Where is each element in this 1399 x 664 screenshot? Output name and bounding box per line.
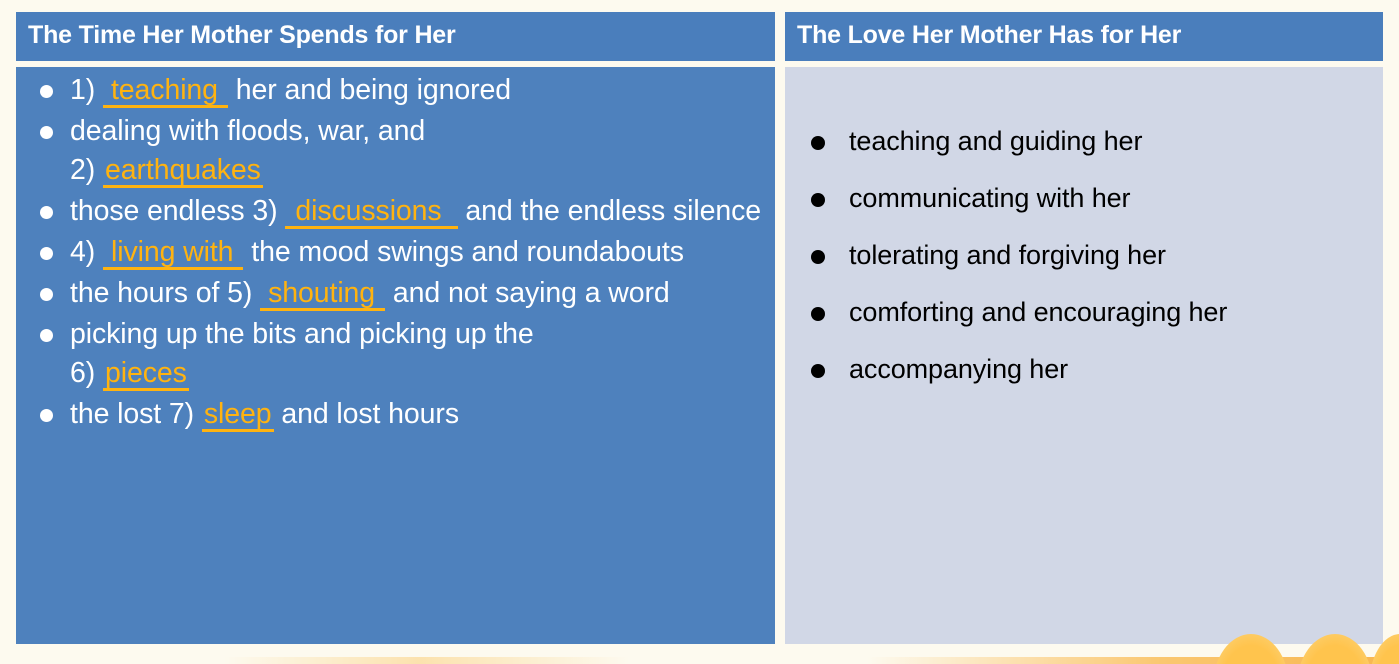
answer-blank-1[interactable]: teaching	[103, 76, 228, 108]
answer-blank-6[interactable]: pieces	[103, 359, 189, 391]
answer-blank-7[interactable]: sleep	[202, 400, 274, 432]
list-item: 1) teaching her and being ignored	[22, 71, 765, 110]
gradient-stripe	[0, 657, 1399, 664]
item-text: tolerating and forgiving her	[849, 240, 1166, 270]
comparison-table: The Time Her Mother Spends for Her 1) te…	[16, 12, 1383, 644]
item-text: and not saying a word	[393, 277, 670, 309]
answer-blank-3[interactable]: discussions	[285, 197, 457, 229]
answer-blank-5[interactable]: shouting	[260, 279, 385, 311]
item-text: the lost 7)	[70, 398, 194, 430]
answer-blank-2[interactable]: earthquakes	[103, 156, 263, 188]
item-text: those endless 3)	[70, 195, 278, 227]
list-item: the lost 7) sleep and lost hours	[22, 395, 765, 434]
answer-blank-4[interactable]: living with	[103, 238, 243, 270]
right-item-list: teaching and guiding hercommunicating wi…	[799, 113, 1373, 398]
item-text: dealing with floods, war, and	[70, 115, 425, 147]
left-column-header: The Time Her Mother Spends for Her	[16, 12, 775, 61]
item-text: 4)	[70, 236, 95, 268]
item-text: the mood swings and roundabouts	[251, 236, 684, 268]
list-item: accompanying her	[799, 341, 1373, 398]
item-text: her and being ignored	[236, 74, 511, 106]
column-time-spent: The Time Her Mother Spends for Her 1) te…	[16, 12, 775, 644]
item-text: comforting and encouraging her	[849, 297, 1227, 327]
left-column-body: 1) teaching her and being ignored dealin…	[16, 67, 775, 644]
item-text: picking up the bits and picking up the	[70, 318, 534, 350]
list-item: communicating with her	[799, 170, 1373, 227]
item-text: 6)	[70, 357, 95, 389]
list-item: 4) living with the mood swings and round…	[22, 233, 765, 272]
list-item: dealing with floods, war, and 2) earthqu…	[22, 112, 765, 190]
right-column-body: teaching and guiding hercommunicating wi…	[785, 67, 1383, 644]
item-text: 1)	[70, 74, 95, 106]
list-item: those endless 3) discussions and the end…	[22, 192, 765, 231]
item-text: and lost hours	[281, 398, 459, 430]
left-item-list: 1) teaching her and being ignored dealin…	[22, 71, 765, 434]
item-text: the hours of 5)	[70, 277, 252, 309]
list-item: picking up the bits and picking up the 6…	[22, 315, 765, 393]
right-column-header: The Love Her Mother Has for Her	[785, 12, 1383, 61]
slide-canvas: The Time Her Mother Spends for Her 1) te…	[0, 0, 1399, 664]
item-text: 2)	[70, 154, 95, 186]
list-item: teaching and guiding her	[799, 113, 1373, 170]
item-text: teaching and guiding her	[849, 126, 1142, 156]
list-item: the hours of 5) shouting and not saying …	[22, 274, 765, 313]
list-item: comforting and encouraging her	[799, 284, 1373, 341]
list-item: tolerating and forgiving her	[799, 227, 1373, 284]
column-love: The Love Her Mother Has for Her teaching…	[785, 12, 1383, 644]
item-text: and the endless silence	[465, 195, 761, 227]
item-text: communicating with her	[849, 183, 1130, 213]
item-text: accompanying her	[849, 354, 1068, 384]
